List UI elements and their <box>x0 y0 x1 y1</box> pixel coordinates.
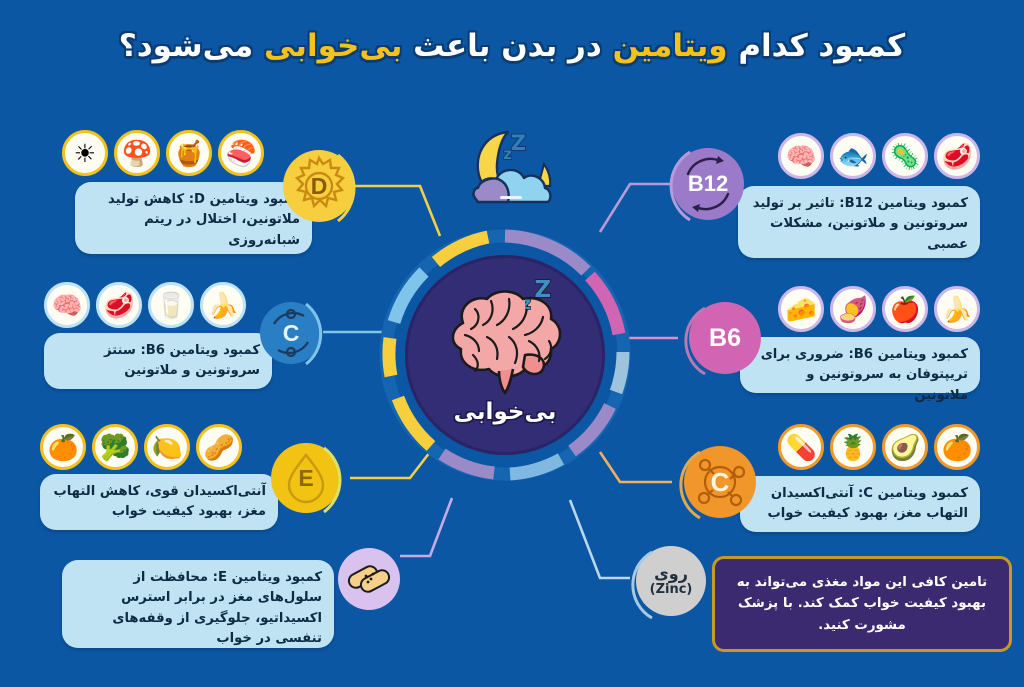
vitamin-c-right-food-icons: 🍊 🥑 🍍 💊 <box>778 424 980 470</box>
vitamin-b12-badge-label: B12 <box>688 171 728 197</box>
cells-icon: 🦠 <box>882 133 928 179</box>
broccoli-icon: 🥦 <box>92 424 138 470</box>
vitamin-b12-card[interactable]: کمبود ویتامین B12: تاثیر بر تولید سروتون… <box>738 186 980 258</box>
vitamin-e-left-card[interactable]: آنتی‌اکسیدان قوی، کاهش التهاب مغز، بهبود… <box>40 474 278 530</box>
fish-milk-icon: 🐟 <box>830 133 876 179</box>
zinc-badge-label-fa: روی <box>654 565 688 583</box>
liver-icon: 🥩 <box>96 282 142 328</box>
vitamin-e-left-food-icons: 🥜 🍋 🥦 🍊 <box>40 424 242 470</box>
moon-cloud-sleep-icon: Z z <box>452 126 572 216</box>
vitamin-d-food-icons: 🍣 🍯 🍄 ☀ <box>62 130 264 176</box>
spinach-apple-icon: 🍎 <box>882 286 928 332</box>
oil-banana-icon: 🍌 <box>200 282 246 328</box>
vitamin-b6-badge-label: B6 <box>709 324 741 353</box>
hub-inner-circle: Z z بی‌خوابی <box>405 255 605 455</box>
infographic-canvas: کمبود کدام ویتامین در بدن باعث بی‌خوابی … <box>0 0 1024 687</box>
vitamin-b12-food-icons: 🥩 🦠 🐟 🧠 <box>778 133 980 179</box>
vitamin-b6-right-food-icons: 🍌 🍎 🍠 🧀 <box>778 286 980 332</box>
vitamin-b6-left-card[interactable]: کمبود ویتامین B6: سنتز سروتونین و ملاتون… <box>44 333 272 389</box>
water-cheese-icon: 🧀 <box>778 286 824 332</box>
svg-text:Z: Z <box>534 277 551 303</box>
vitamin-c-right-badge-label: C <box>711 467 730 498</box>
avocado-icon: 🥑 <box>882 424 928 470</box>
mushroom-icon: 🍄 <box>114 130 160 176</box>
vitamin-b6-right-card[interactable]: کمبود ویتامین B6: ضروری برای تریپتوفان ب… <box>740 337 980 393</box>
bandage-badge[interactable] <box>338 548 400 610</box>
svg-text:Z: Z <box>511 131 526 155</box>
milk-carton-icon: 🥛 <box>148 282 194 328</box>
orange-icon: 🍊 <box>40 424 86 470</box>
bandage-icon <box>344 554 394 604</box>
brain-icon: 🧠 <box>44 282 90 328</box>
lemon-icon: 🍋 <box>144 424 190 470</box>
hub-label: بی‌خوابی <box>454 399 557 425</box>
vitamin-d-badge-label: D <box>311 173 328 200</box>
vitamin-e-badge-label: E <box>298 465 313 492</box>
vitamin-b6-left-food-icons: 🍌 🥛 🥩 🧠 <box>44 282 246 328</box>
svg-text:z: z <box>525 294 531 314</box>
vitamin-c-right-card[interactable]: کمبود ویتامین C: آنتی‌اکسیدان التهاب مغز… <box>740 476 980 532</box>
pineapple-icon: 🍍 <box>830 424 876 470</box>
nuts-icon: 🥜 <box>196 424 242 470</box>
banana-icon: 🍌 <box>934 286 980 332</box>
supplement-icon: 💊 <box>778 424 824 470</box>
steak-icon: 🥩 <box>934 133 980 179</box>
sweet-potato-icon: 🍠 <box>830 286 876 332</box>
sun-icon: ☀ <box>62 130 108 176</box>
salmon-icon: 🍣 <box>218 130 264 176</box>
zinc-badge-label-en: (Zinc) <box>650 583 693 597</box>
orange-icon: 🍊 <box>934 424 980 470</box>
svg-text:z: z <box>503 145 512 163</box>
conclusion-box[interactable]: تامین کافی این مواد مغذی می‌تواند به بهب… <box>712 556 1012 652</box>
central-hub: Z z بی‌خوابی <box>376 226 634 484</box>
brain-icon: 🧠 <box>778 133 824 179</box>
milk-bottle-icon: 🍯 <box>166 130 212 176</box>
zzz-icon: Z z <box>525 277 583 317</box>
vitamin-c-left-badge-label: C <box>283 320 300 347</box>
vitamin-e-bottom-card[interactable]: کمبود ویتامین E: محافظت از سلول‌های مغز … <box>62 560 334 648</box>
